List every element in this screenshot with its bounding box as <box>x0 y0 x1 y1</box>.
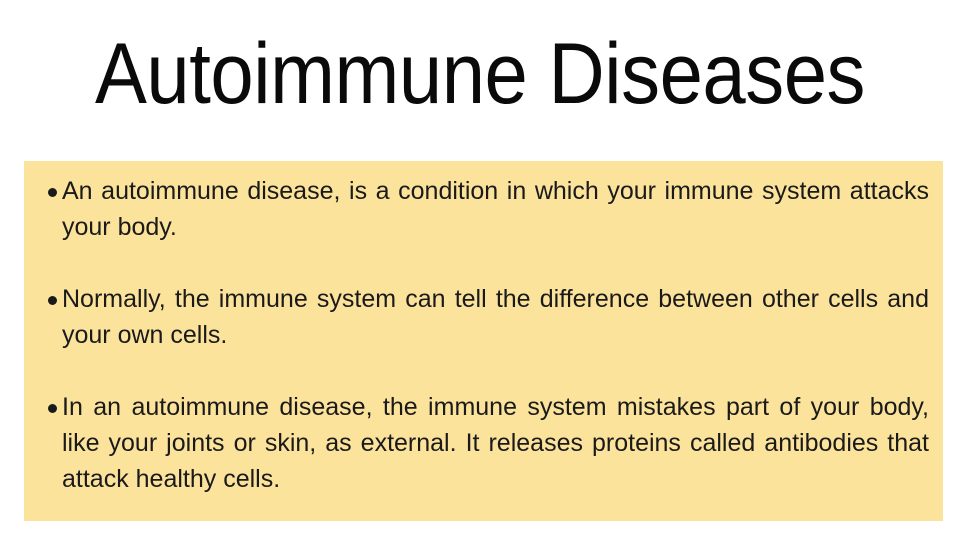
list-item-text: Normally, the immune system can tell the… <box>62 285 929 349</box>
bullet-dot-icon <box>48 188 57 197</box>
list-item: Normally, the immune system can tell the… <box>38 281 929 353</box>
bullet-dot-icon <box>48 296 57 305</box>
bullet-dot-icon <box>48 404 57 413</box>
list-item-text: In an autoimmune disease, the immune sys… <box>62 393 929 493</box>
slide-canvas: Autoimmune Diseases An autoimmune diseas… <box>0 0 960 540</box>
content-panel: An autoimmune disease, is a condition in… <box>24 161 943 521</box>
list-item: In an autoimmune disease, the immune sys… <box>38 389 929 497</box>
list-item-text: An autoimmune disease, is a condition in… <box>62 177 929 241</box>
list-item: An autoimmune disease, is a condition in… <box>38 173 929 245</box>
page-title: Autoimmune Diseases <box>46 28 915 120</box>
bullet-list: An autoimmune disease, is a condition in… <box>38 173 929 497</box>
